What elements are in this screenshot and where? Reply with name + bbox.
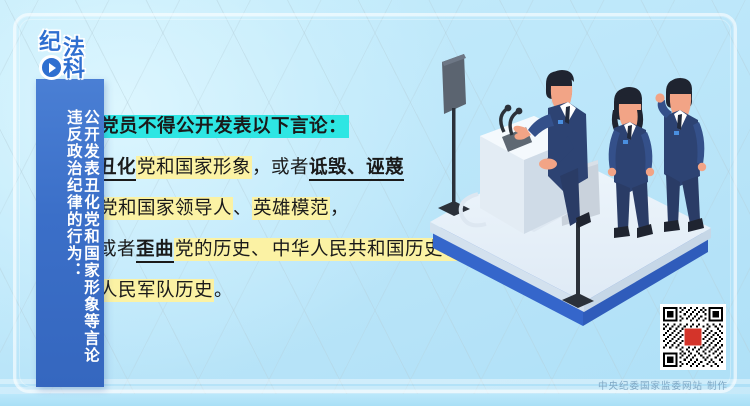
line1-highlight: 党员不得公开发表以下言论： — [98, 115, 349, 138]
line2-plain: ，或者 — [252, 157, 309, 178]
line5-highlight: 人民军队历史 — [98, 279, 214, 302]
brand-block: 公开发表丑化党和国家形象等言论 违反政治纪律的行为： 纪 法 科 — [36, 32, 108, 362]
banner-sub-text: 违反政治纪律的行为： — [65, 109, 81, 379]
logo-char-ke: 科 — [63, 59, 85, 81]
bottom-band-3 — [0, 394, 750, 406]
illustration — [408, 36, 738, 336]
play-icon — [39, 55, 64, 80]
line4-underline: 歪曲 — [136, 239, 174, 263]
line3-highlight-2: 英雄模范 — [252, 197, 330, 220]
qr-center-logo — [684, 328, 703, 347]
line4-highlight-1: 党的历史、 — [174, 238, 271, 261]
brand-logo: 纪 法 科 — [36, 32, 108, 98]
line3-highlight-1: 党和国家领导人 — [98, 197, 233, 220]
poster-root: 公开发表丑化党和国家形象等言论 违反政治纪律的行为： 纪 法 科 党员不得公开发… — [0, 0, 750, 406]
monitor-stand-left — [438, 54, 470, 216]
line3-plain-1: 、 — [233, 198, 252, 219]
logo-char-ji: 纪 — [39, 32, 61, 54]
line2-underline-2: 诋毁、诬蔑 — [309, 157, 404, 181]
vertical-banner: 公开发表丑化党和国家形象等言论 违反政治纪律的行为： — [36, 79, 104, 387]
line3-plain-2: ， — [330, 198, 349, 219]
qr-code[interactable] — [660, 304, 726, 370]
banner-main-text: 公开发表丑化党和国家形象等言论 — [83, 109, 99, 379]
line2-highlight: 党和国家形象 — [136, 156, 252, 179]
footer-credit: 中央纪委国家监委网站 制作 — [598, 378, 728, 392]
line5-plain: 。 — [214, 280, 233, 301]
